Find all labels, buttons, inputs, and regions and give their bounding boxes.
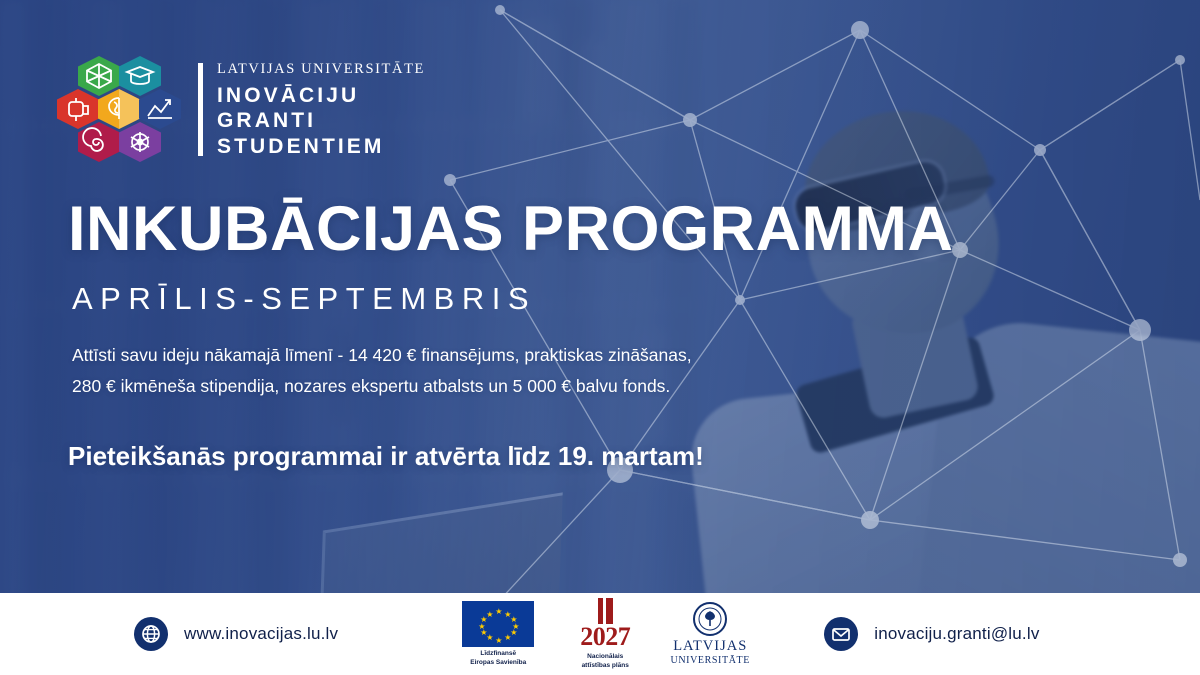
- brand-text-block: LATVIJAS UNIVERSITĀTE INOVĀCIJU GRANTI S…: [198, 61, 425, 160]
- brand-divider-bar: [198, 63, 203, 157]
- hexagon-cluster-logo: [72, 55, 182, 165]
- nap-year: 2027: [562, 624, 648, 650]
- nap-caption-line-1: Nacionālais: [562, 653, 648, 661]
- body-copy: Attīsti savu ideju nākamajā līmenī - 14 …: [72, 340, 692, 401]
- program-name-line-1: INOVĀCIJU: [217, 83, 425, 109]
- body-copy-line-1: Attīsti savu ideju nākamajā līmenī - 14 …: [72, 340, 692, 371]
- application-deadline-text: Pieteikšanās programmai ir atvērta līdz …: [68, 441, 704, 472]
- lu-name-line-1: LATVIJAS: [664, 639, 756, 655]
- eu-funding-logo: ★ ★ ★ ★ ★ ★ ★ ★ ★ ★ ★ ★ Līdzfinansē Eiro…: [450, 601, 546, 666]
- nap-logo: 2027 Nacionālais attīstības plāns: [562, 598, 648, 669]
- email-link[interactable]: inovaciju.granti@lu.lv: [824, 617, 1039, 651]
- lu-logo: LATVIJAS UNIVERSITĀTE: [664, 602, 756, 666]
- email-address: inovaciju.granti@lu.lv: [874, 624, 1039, 644]
- lu-seal-icon: [693, 602, 727, 636]
- eu-caption-line-2: Eiropas Savienība: [450, 659, 546, 667]
- promo-poster: LATVIJAS UNIVERSITĀTE INOVĀCIJU GRANTI S…: [0, 0, 1200, 675]
- eu-flag-icon: ★ ★ ★ ★ ★ ★ ★ ★ ★ ★ ★ ★: [462, 601, 534, 647]
- program-logo: LATVIJAS UNIVERSITĀTE INOVĀCIJU GRANTI S…: [72, 55, 425, 165]
- page-title: INKUBĀCIJAS PROGRAMMA: [68, 193, 954, 265]
- website-link[interactable]: www.inovacijas.lu.lv: [134, 617, 338, 651]
- footer-bar: www.inovacijas.lu.lv ★ ★ ★ ★ ★ ★ ★ ★ ★ ★…: [0, 593, 1200, 675]
- hex-purple-atom-icon: [117, 121, 163, 161]
- envelope-icon: [824, 617, 858, 651]
- program-name-line-2: GRANTI: [217, 108, 425, 134]
- eu-caption-line-1: Līdzfinansē: [450, 650, 546, 658]
- network-overlay-graphic: [440, 0, 1200, 600]
- lu-name-line-2: UNIVERSITĀTE: [664, 655, 756, 666]
- page-subtitle: APRĪLIS-SEPTEMBRIS: [72, 281, 536, 317]
- globe-icon: [134, 617, 168, 651]
- hex-crimson-spiral-icon: [76, 121, 122, 161]
- body-copy-line-2: 280 € ikmēneša stipendija, nozares ekspe…: [72, 371, 692, 402]
- nacionalais-attistibas-plans-icon: [562, 598, 648, 624]
- program-name-line-3: STUDENTIEM: [217, 134, 425, 160]
- website-url: www.inovacijas.lu.lv: [184, 624, 338, 644]
- university-name: LATVIJAS UNIVERSITĀTE: [217, 61, 425, 78]
- nap-caption-line-2: attīstības plāns: [562, 662, 648, 670]
